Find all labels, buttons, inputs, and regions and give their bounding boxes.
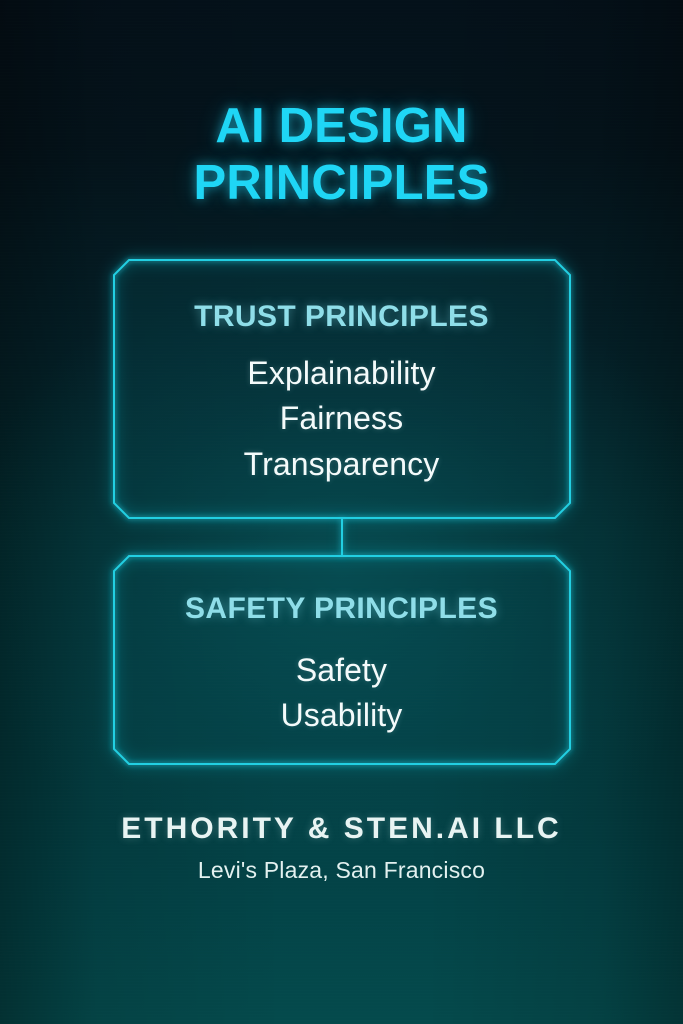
list-item: Explainability: [244, 351, 440, 396]
panel-safety-item-list: Safety Usability: [281, 648, 403, 739]
principles-diagram: TRUST PRINCIPLES Explainability Fairness…: [113, 259, 571, 765]
list-item: Transparency: [244, 442, 440, 487]
list-item: Safety: [281, 648, 403, 693]
panel-trust-heading: TRUST PRINCIPLES: [194, 300, 489, 334]
footer: ETHORITY & STEN.AI LLC Levi's Plaza, San…: [32, 812, 652, 884]
panel-connector: [113, 519, 571, 555]
connector-line-icon: [341, 518, 343, 556]
page-title-line-1: AI DESIGN: [82, 98, 602, 155]
page-title-line-2: PRINCIPLES: [82, 155, 602, 212]
list-item: Fairness: [244, 396, 440, 441]
panel-trust-item-list: Explainability Fairness Transparency: [244, 351, 440, 487]
poster-canvas: AI DESIGN PRINCIPLES TRUST PRINCIPLES Ex…: [0, 0, 683, 1024]
list-item: Usability: [281, 693, 403, 738]
panel-trust-principles[interactable]: TRUST PRINCIPLES Explainability Fairness…: [113, 259, 571, 519]
panel-safety-heading: SAFETY PRINCIPLES: [185, 592, 498, 626]
page-title: AI DESIGN PRINCIPLES: [82, 98, 602, 212]
footer-company-name: ETHORITY & STEN.AI LLC: [32, 812, 652, 846]
panel-safety-principles[interactable]: SAFETY PRINCIPLES Safety Usability: [113, 555, 571, 765]
footer-address: Levi's Plaza, San Francisco: [32, 857, 652, 884]
